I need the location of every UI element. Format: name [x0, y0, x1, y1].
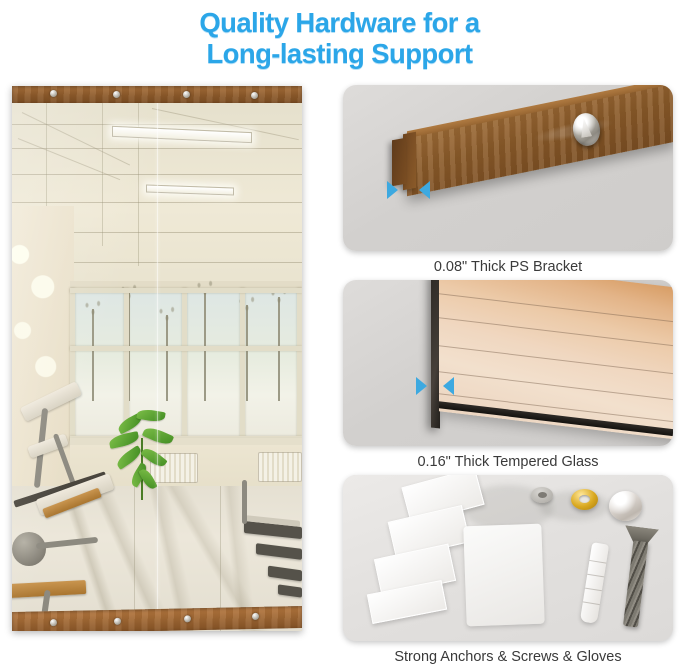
screw-threaded-shaft [623, 540, 648, 627]
weight-machine [12, 394, 132, 624]
hardware-kit-flatlay [343, 475, 673, 641]
thickness-arrow-left-icon [419, 181, 430, 199]
ceiling-light-fixture [146, 184, 234, 195]
headline-line-2: Long-lasting Support [0, 38, 679, 69]
wood-frame-rail-top [12, 86, 302, 103]
radiator [258, 452, 302, 482]
gold-ring [571, 489, 598, 510]
thickness-arrow-right-icon [387, 181, 398, 199]
caption-anchors-screws-gloves: Strong Anchors & Screws & Gloves [343, 648, 673, 666]
chrome-dome-cap [609, 491, 642, 521]
reflected-gym-scene [12, 86, 302, 631]
content-area: 0.08" Thick PS Bracket 0.16" Thick Tempe… [0, 76, 679, 671]
headline-line-1: Quality Hardware for a [0, 7, 679, 38]
page-title: Quality Hardware for a Long-lasting Supp… [0, 0, 679, 69]
bracket-lip [392, 138, 406, 186]
wood-bracket-strip [403, 89, 673, 229]
card-anchors-screws-gloves [343, 475, 673, 641]
bracket-front-face [407, 85, 673, 196]
grey-washer [531, 487, 553, 503]
glove-pair [463, 524, 544, 627]
sunlight-patch [12, 226, 66, 416]
ceiling-light-fixture [112, 126, 252, 143]
frame-screw [113, 91, 120, 98]
thickness-arrow-right-icon [416, 377, 427, 395]
thickness-arrow-left-icon [443, 377, 454, 395]
frame-screw [50, 90, 57, 97]
card-tempered-glass [343, 280, 673, 446]
frame-screw [251, 92, 258, 99]
card-ps-bracket [343, 85, 673, 251]
gym-mirror-photo [12, 86, 302, 631]
caption-tempered-glass: 0.16" Thick Tempered Glass [343, 453, 673, 471]
frame-screw [183, 91, 190, 98]
wall-anchor [580, 542, 609, 624]
mirror-panel-seam [157, 86, 158, 631]
caption-ps-bracket: 0.08" Thick PS Bracket [343, 258, 673, 276]
mirror-glass-pane [343, 280, 673, 446]
mounting-screw [615, 526, 657, 629]
